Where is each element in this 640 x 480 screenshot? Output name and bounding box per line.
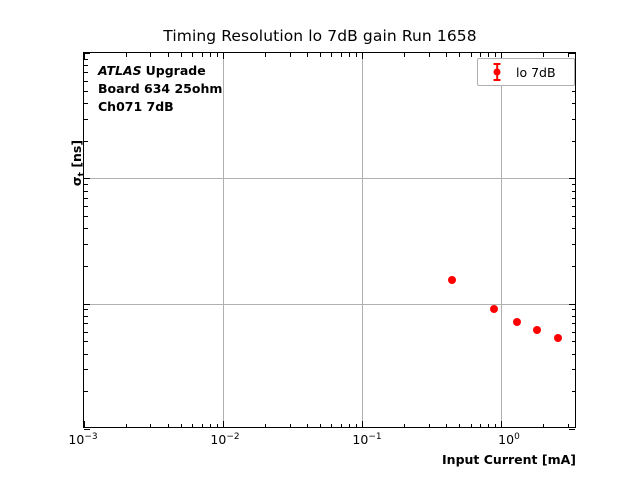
data-point: [490, 305, 498, 313]
y-axis-minor-tick: [84, 81, 88, 82]
x-axis-minor-tick: [349, 424, 350, 428]
x-axis-minor-tick: [331, 424, 332, 428]
x-axis-minor-tick: [265, 424, 266, 428]
y-axis-minor-tick: [84, 316, 88, 317]
y-axis-tick: [84, 304, 90, 305]
y-axis-minor-tick: [84, 391, 88, 392]
x-axis-minor-tick: [471, 424, 472, 428]
y-axis-minor-tick-right: [572, 103, 576, 104]
y-axis-minor-tick-right: [572, 198, 576, 199]
y-axis-minor-tick: [84, 59, 88, 60]
y-axis-minor-tick: [84, 198, 88, 199]
grid-line-vertical: [501, 53, 502, 427]
sigma-symbol: σ: [69, 176, 84, 186]
y-axis-minor-tick-right: [572, 309, 576, 310]
y-axis-tick: [84, 53, 90, 54]
x-axis-tick-top: [362, 53, 363, 59]
y-axis-minor-tick: [84, 354, 88, 355]
x-axis-minor-tick-top: [265, 53, 266, 57]
y-axis-minor-tick-right: [572, 341, 576, 342]
atlas-label: ATLAS: [98, 63, 142, 78]
x-axis-minor-tick-top: [495, 53, 496, 57]
x-axis-minor-tick-top: [202, 53, 203, 57]
grid-line-horizontal: [84, 304, 575, 305]
y-axis-title-text: σt [ns]: [69, 140, 84, 186]
x-axis-minor-tick-top: [320, 53, 321, 57]
x-axis-minor-tick: [150, 424, 151, 428]
x-axis-minor-tick-top: [181, 53, 182, 57]
x-axis-tick: [223, 421, 224, 427]
x-axis-minor-tick-top: [341, 53, 342, 57]
x-axis-minor-tick-top: [356, 53, 357, 57]
y-axis-minor-tick-right: [572, 332, 576, 333]
x-axis-minor-tick-top: [126, 53, 127, 57]
x-axis-minor-tick: [459, 424, 460, 428]
x-axis-minor-tick: [543, 424, 544, 428]
y-axis-minor-tick-right: [572, 228, 576, 229]
x-axis-minor-tick-top: [290, 53, 291, 57]
x-axis-tick-top: [223, 53, 224, 59]
annotation-line-1: ATLAS Upgrade: [98, 62, 222, 80]
x-axis-minor-tick-top: [307, 53, 308, 57]
x-axis-minor-tick: [488, 424, 489, 428]
x-axis-minor-tick-top: [168, 53, 169, 57]
data-point: [533, 326, 541, 334]
y-axis-minor-tick-right: [572, 141, 576, 142]
y-axis-minor-tick-right: [572, 266, 576, 267]
grid-line-vertical: [362, 53, 363, 427]
y-axis-minor-tick-right: [572, 184, 576, 185]
legend-label: lo 7dB: [516, 65, 556, 80]
y-axis-minor-tick-right: [572, 206, 576, 207]
x-axis-tick: [84, 421, 85, 427]
x-axis-minor-tick-top: [488, 53, 489, 57]
x-axis-minor-tick: [126, 424, 127, 428]
x-axis-minor-tick: [568, 424, 569, 428]
y-axis-minor-tick: [84, 72, 88, 73]
upgrade-label: Upgrade: [146, 63, 206, 78]
y-axis-minor-tick-right: [572, 323, 576, 324]
atlas-annotation: ATLAS Upgrade Board 634 25ohm Ch071 7dB: [98, 62, 222, 115]
y-axis-minor-tick: [84, 91, 88, 92]
x-axis-minor-tick-top: [349, 53, 350, 57]
x-axis-minor-tick: [210, 424, 211, 428]
y-axis-minor-tick-right: [572, 91, 576, 92]
x-axis-minor-tick-top: [471, 53, 472, 57]
x-axis-tick: [362, 421, 363, 427]
y-axis-minor-tick: [84, 216, 88, 217]
annotation-line-2: Board 634 25ohm: [98, 80, 222, 98]
figure-canvas: Timing Resolution lo 7dB gain Run 1658 σ…: [0, 0, 640, 480]
y-axis-minor-tick: [84, 141, 88, 142]
y-axis-minor-tick: [84, 103, 88, 104]
y-axis-minor-tick: [84, 65, 88, 66]
x-axis-minor-tick: [168, 424, 169, 428]
x-axis-minor-tick: [495, 424, 496, 428]
y-axis-minor-tick: [84, 119, 88, 120]
x-axis-minor-tick-top: [150, 53, 151, 57]
y-axis-minor-tick-right: [572, 354, 576, 355]
x-axis-minor-tick: [307, 424, 308, 428]
y-axis-minor-tick: [84, 323, 88, 324]
x-axis-minor-tick: [217, 424, 218, 428]
chart-title: Timing Resolution lo 7dB gain Run 1658: [0, 27, 640, 45]
y-axis-minor-tick: [84, 341, 88, 342]
annotation-line-3: Ch071 7dB: [98, 98, 222, 116]
y-axis-minor-tick-right: [572, 316, 576, 317]
grid-line-vertical: [223, 53, 224, 427]
y-axis-tick: [84, 429, 90, 430]
data-point: [448, 276, 456, 284]
y-axis-minor-tick-right: [572, 216, 576, 217]
legend[interactable]: lo 7dB: [477, 58, 575, 86]
x-axis-minor-tick: [429, 424, 430, 428]
x-axis-minor-tick: [202, 424, 203, 428]
x-axis-minor-tick: [290, 424, 291, 428]
y-axis-minor-tick-right: [572, 191, 576, 192]
y-axis-minor-tick: [84, 228, 88, 229]
y-axis-minor-tick-right: [572, 244, 576, 245]
x-axis-minor-tick-top: [459, 53, 460, 57]
x-axis-minor-tick: [480, 424, 481, 428]
grid-line-horizontal: [84, 178, 575, 179]
x-axis-minor-tick-top: [446, 53, 447, 57]
y-axis-minor-tick-right: [572, 119, 576, 120]
x-axis-minor-tick: [446, 424, 447, 428]
y-axis-unit: [ns]: [69, 140, 84, 172]
x-axis-minor-tick: [192, 424, 193, 428]
data-point: [554, 334, 562, 342]
x-axis-title: Input Current [mA]: [442, 452, 576, 467]
x-axis-minor-tick-top: [543, 53, 544, 57]
legend-marker-errorbar-icon: [478, 59, 516, 85]
x-axis-minor-tick: [356, 424, 357, 428]
data-point: [513, 318, 521, 326]
x-axis-minor-tick-top: [217, 53, 218, 57]
y-axis-tick-right: [569, 53, 575, 54]
y-axis-tick: [84, 178, 90, 179]
y-axis-minor-tick: [84, 191, 88, 192]
x-axis-tick: [501, 421, 502, 427]
y-axis-minor-tick: [84, 266, 88, 267]
x-axis-minor-tick-top: [210, 53, 211, 57]
y-axis-tick-right: [569, 178, 575, 179]
x-axis-minor-tick: [181, 424, 182, 428]
x-axis-minor-tick-top: [192, 53, 193, 57]
x-axis-minor-tick: [320, 424, 321, 428]
y-axis-minor-tick-right: [572, 391, 576, 392]
y-axis-minor-tick: [84, 369, 88, 370]
y-axis-minor-tick: [84, 184, 88, 185]
x-axis-minor-tick-top: [429, 53, 430, 57]
x-tick-label: 10−2: [210, 432, 239, 447]
x-tick-label: 100: [498, 432, 520, 447]
x-axis-minor-tick-top: [331, 53, 332, 57]
x-axis-minor-tick-top: [480, 53, 481, 57]
y-axis-minor-tick: [84, 206, 88, 207]
y-axis-minor-tick: [84, 244, 88, 245]
x-tick-label: 10−1: [352, 432, 381, 447]
x-tick-label: 10−3: [68, 432, 97, 447]
x-axis-minor-tick-top: [404, 53, 405, 57]
x-axis-minor-tick: [341, 424, 342, 428]
y-axis-minor-tick: [84, 332, 88, 333]
y-axis-minor-tick: [84, 309, 88, 310]
y-axis-tick-right: [569, 429, 575, 430]
x-axis-minor-tick: [404, 424, 405, 428]
y-axis-tick-right: [569, 304, 575, 305]
y-axis-minor-tick-right: [572, 369, 576, 370]
